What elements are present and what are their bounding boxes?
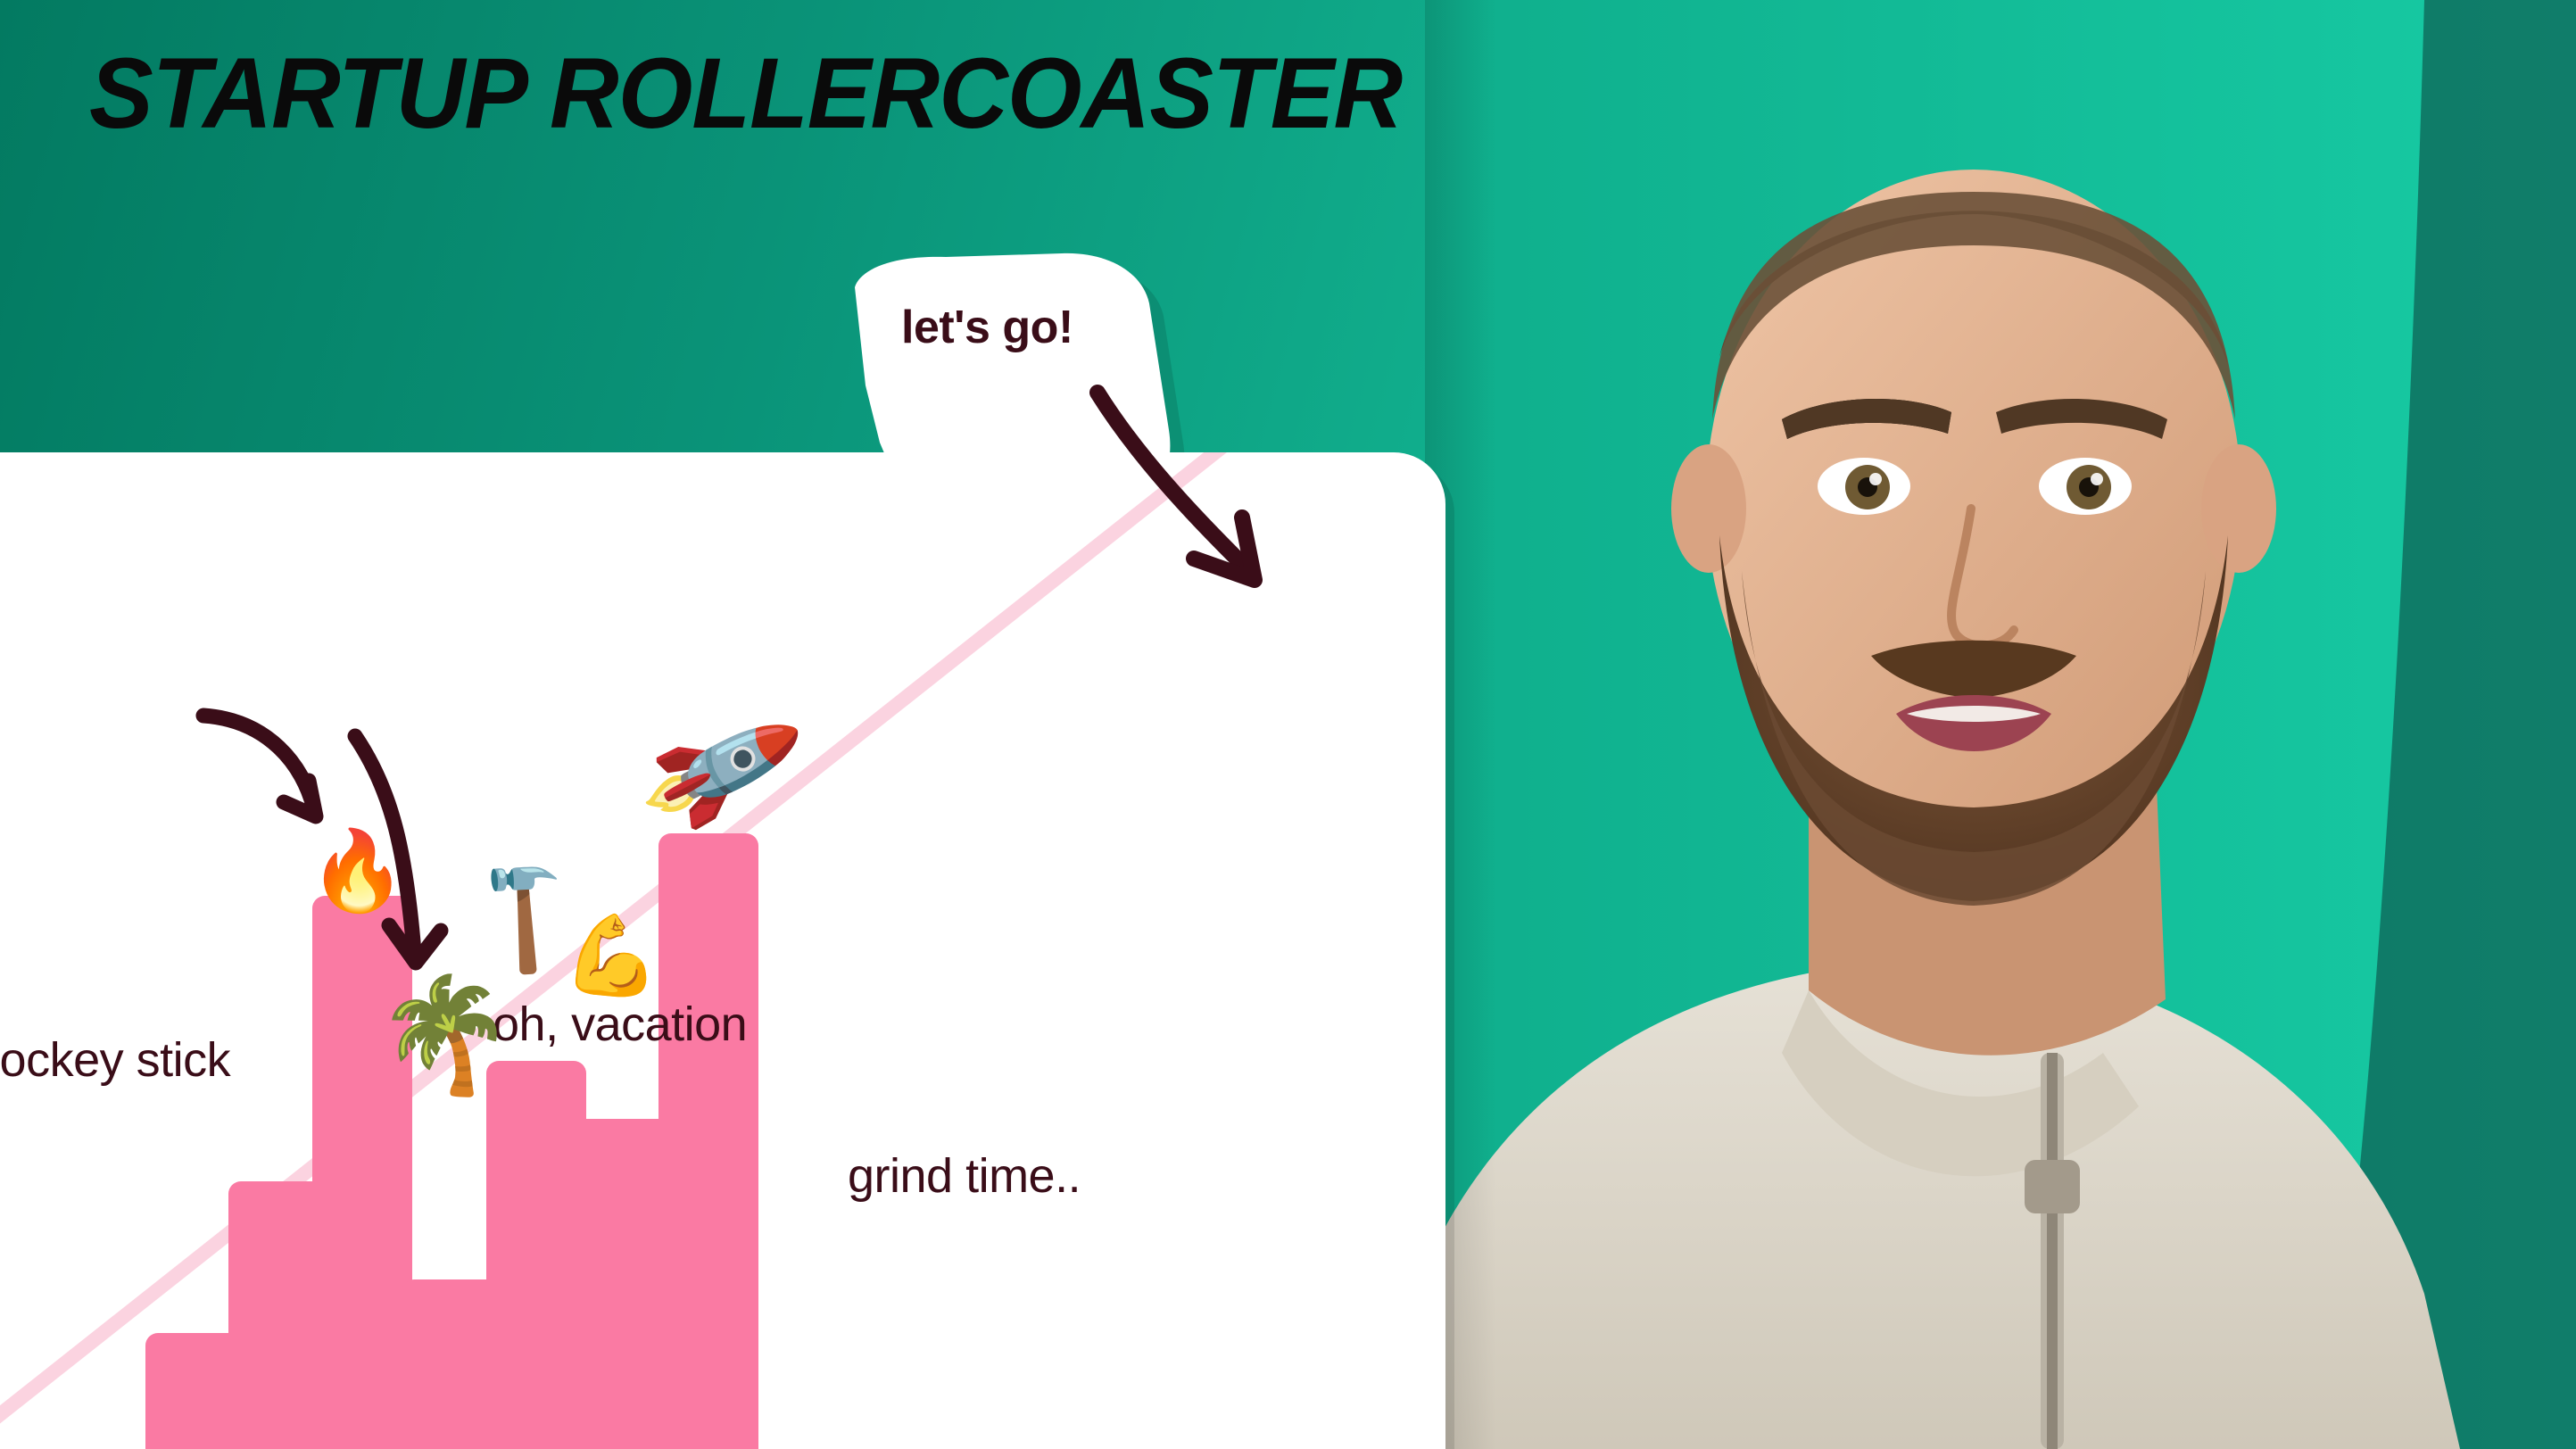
palm-tree-emoji: 🌴 (375, 979, 515, 1091)
fire-emoji: 🔥 (309, 832, 407, 910)
annotation-grind-time: grind time.. (848, 1148, 1081, 1204)
thumbnail-canvas: STARTUP ROLLERCOASTER let's go! hockey s… (0, 0, 2576, 1449)
page-title: STARTUP ROLLERCOASTER (89, 36, 1402, 151)
flexed-biceps-emoji: 💪 (562, 916, 660, 995)
annotation-oh-vacation: oh, vacation (493, 997, 747, 1052)
bar-6 (571, 1119, 671, 1449)
presenter-photo (1425, 0, 2576, 1449)
rocket-emoji: 🚀 (634, 691, 807, 847)
bar-chart: hockey stick oh, vacation grind time.. 🔥… (0, 452, 1445, 1449)
bar-7 (658, 833, 758, 1449)
annotation-hockey-stick: hockey stick (0, 1032, 230, 1088)
bubble-text: let's go! (901, 301, 1073, 354)
